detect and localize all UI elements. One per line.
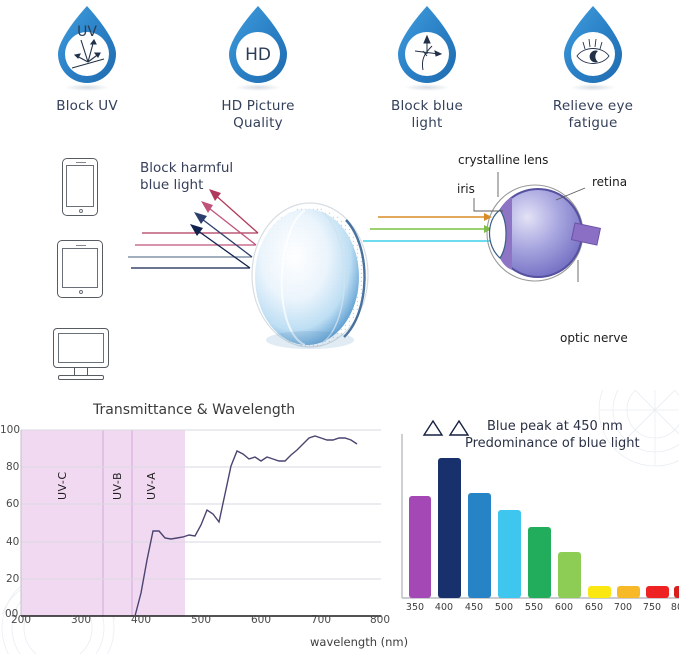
- uv-b-band: [103, 430, 132, 616]
- y-tick-20: 20: [6, 573, 19, 585]
- uv-c-band-label: UV-C: [56, 471, 69, 500]
- feature-hd-picture-quality[interactable]: HD HD Picture Quality: [183, 0, 333, 132]
- feature-caption: Relieve eye fatigue: [518, 98, 668, 132]
- predominance-annotation: Predominance of blue light: [465, 436, 640, 451]
- lens-shape: [252, 203, 368, 349]
- optics-diagram: [0, 140, 679, 390]
- feature-row: UV Block UV HD HD Picture Quality: [0, 0, 679, 140]
- optic-nerve-label: optic nerve: [560, 331, 628, 345]
- x-axis-label: wavelength (nm): [310, 635, 408, 649]
- bar-tick-400: 400: [428, 602, 460, 613]
- blue-light-droplet-icon: [390, 4, 464, 88]
- bar-tick-800: 800: [664, 602, 679, 613]
- bar-tick-450: 450: [458, 602, 490, 613]
- retina-label: retina: [592, 175, 627, 189]
- crystalline-lens-label: crystalline lens: [458, 153, 548, 167]
- feature-caption: HD Picture Quality: [183, 98, 333, 132]
- bar-tick-700: 700: [607, 602, 639, 613]
- uv-a-band: [132, 430, 185, 616]
- bar-700[interactable]: [617, 586, 640, 598]
- bar-650[interactable]: [588, 586, 611, 598]
- hd-droplet-text: HD: [245, 45, 271, 65]
- blue-light-bar-chart: 350 400 450 500 550 600 650 700 750 800 …: [393, 418, 679, 630]
- bar-tick-500: 500: [488, 602, 520, 613]
- eye-droplet-icon: [556, 4, 630, 88]
- bar-tick-350: 350: [399, 602, 431, 613]
- feature-caption: Block UV: [12, 98, 162, 115]
- bar-tick-650: 650: [578, 602, 610, 613]
- uv-b-band-label: UV-B: [111, 472, 124, 500]
- x-tick-200: 200: [11, 614, 31, 626]
- blue-light-droplet-wrap: [390, 4, 464, 88]
- x-tick-600: 600: [251, 614, 271, 626]
- x-tick-800: 800: [370, 614, 390, 626]
- y-tick-40: 40: [6, 536, 19, 548]
- bar-400[interactable]: [438, 458, 461, 598]
- bar-750[interactable]: [646, 586, 669, 598]
- blocked-rays: [128, 189, 258, 268]
- feature-block-blue-light[interactable]: Block blue light: [352, 0, 502, 132]
- x-tick-500: 500: [191, 614, 211, 626]
- lens-eye-illustration: Block harmful blue light: [0, 140, 679, 390]
- uv-droplet-icon: UV: [50, 4, 124, 88]
- line-chart-title: Transmittance & Wavelength: [93, 402, 295, 418]
- y-tick-100: 100: [0, 424, 20, 436]
- y-tick-60: 60: [6, 498, 19, 510]
- x-tick-700: 700: [311, 614, 331, 626]
- feature-relieve-eye-fatigue[interactable]: Relieve eye fatigue: [518, 0, 668, 132]
- uv-a-band-label: UV-A: [145, 472, 158, 500]
- bar-tick-600: 600: [548, 602, 580, 613]
- uv-c-band: [21, 430, 103, 616]
- eyeball-diagram: [474, 172, 600, 282]
- uv-droplet-wrap: UV: [50, 4, 124, 88]
- bar-550[interactable]: [528, 527, 551, 598]
- charts-row: Transmittance & Wavelength 100 80 60 40 …: [0, 390, 679, 654]
- eye-droplet-wrap: [556, 4, 630, 88]
- uv-droplet-text: UV: [77, 24, 97, 40]
- iris-label: iris: [457, 182, 475, 196]
- bar-350[interactable]: [409, 496, 431, 598]
- x-tick-400: 400: [131, 614, 151, 626]
- x-tick-300: 300: [71, 614, 91, 626]
- bar-600[interactable]: [558, 552, 581, 598]
- y-tick-80: 80: [6, 461, 19, 473]
- blue-peak-annotation: Blue peak at 450 nm: [487, 419, 623, 434]
- bar-450[interactable]: [468, 493, 491, 598]
- feature-caption: Block blue light: [352, 98, 502, 132]
- bar-tick-550: 550: [518, 602, 550, 613]
- hd-droplet-icon: HD: [221, 4, 295, 88]
- bar-800[interactable]: [674, 586, 679, 598]
- bar-500[interactable]: [498, 510, 521, 598]
- triangle-marker-2: [450, 421, 468, 435]
- triangle-marker-1: [424, 421, 442, 435]
- bars-container: [403, 458, 679, 598]
- hd-droplet-wrap: HD: [221, 4, 295, 88]
- feature-block-uv[interactable]: UV Block UV: [12, 0, 162, 115]
